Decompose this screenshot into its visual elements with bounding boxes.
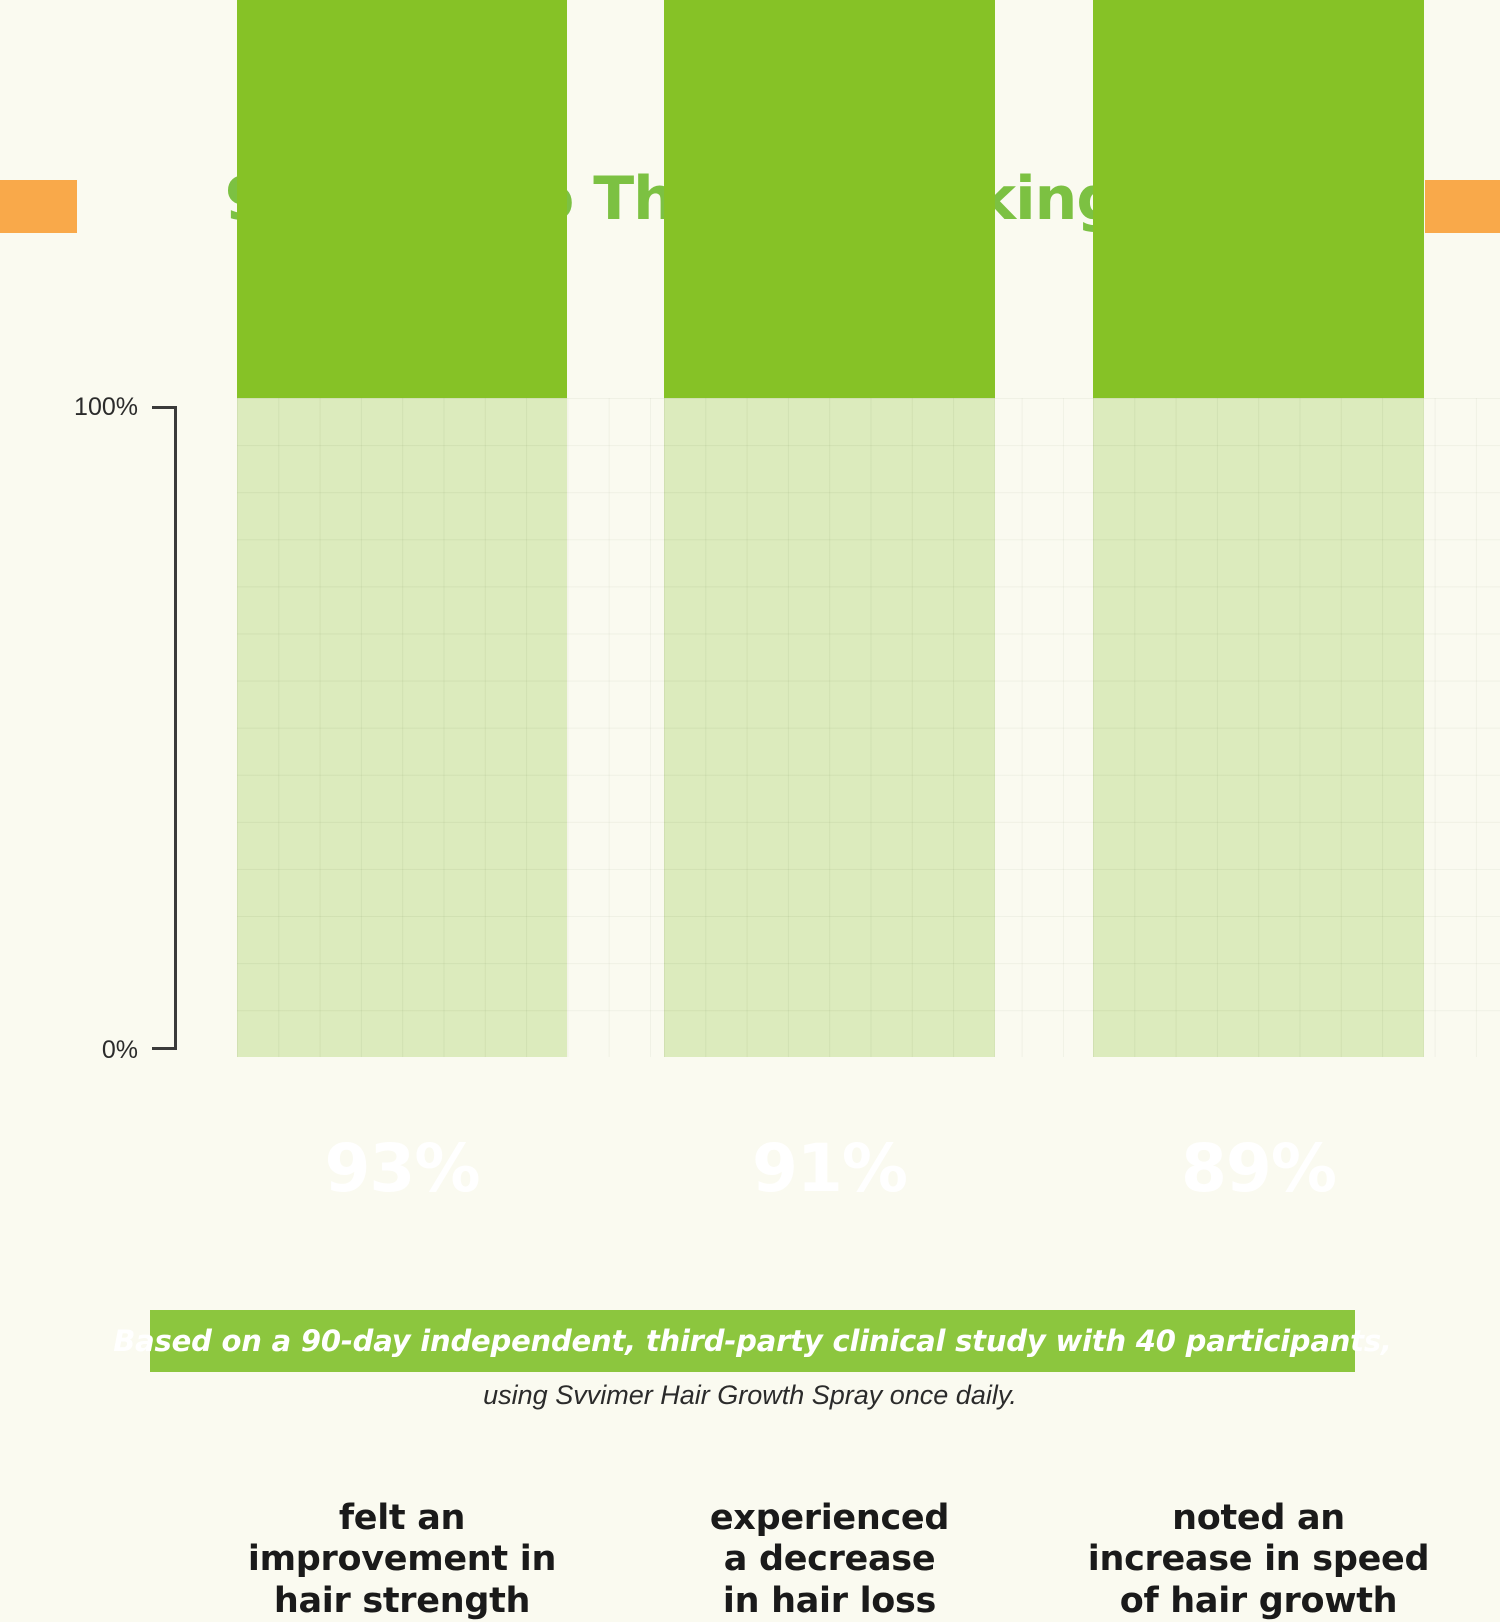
- footer-note: using Svvimer Hair Growth Spray once dai…: [0, 1380, 1500, 1411]
- bar-caption-line: of hair growth: [1043, 1581, 1474, 1622]
- bar-track: [1093, 398, 1424, 1057]
- footer-banner: Based on a 90-day independent, third-par…: [150, 1310, 1355, 1372]
- bar-caption: felt an improvement in hair strength: [187, 1498, 617, 1622]
- bar-chart: 100% 0% 93% felt an improvement in hair …: [0, 0, 1500, 1500]
- infographic-canvas: 90 Days to Thicker-Looking Hair 100% 0% …: [0, 0, 1500, 1500]
- footer-banner-text: Based on a 90-day independent, third-par…: [113, 1324, 1391, 1358]
- bar-value-label: 93%: [237, 1130, 567, 1207]
- bar-caption-line: noted an: [1043, 1498, 1474, 1539]
- bar-caption-line: felt an: [187, 1498, 617, 1539]
- y-axis-tick-min: [152, 1047, 177, 1050]
- bar-value-label: 89%: [1093, 1130, 1424, 1207]
- bar-track: [664, 398, 995, 1057]
- bar-caption-line: improvement in: [187, 1539, 617, 1580]
- y-axis-spine: [174, 406, 177, 1050]
- bar-caption-line: a decrease: [614, 1539, 1045, 1580]
- bar-caption-line: increase in speed: [1043, 1539, 1474, 1580]
- bar-track: [237, 398, 567, 1057]
- bar-fill: [1093, 0, 1424, 398]
- bar-fill: [664, 0, 995, 398]
- bar-caption: experienced a decrease in hair loss: [614, 1498, 1045, 1622]
- y-axis-tick-max: [152, 406, 177, 409]
- bar-caption-line: hair strength: [187, 1581, 617, 1622]
- bar-caption-line: experienced: [614, 1498, 1045, 1539]
- bar-caption-line: in hair loss: [614, 1581, 1045, 1622]
- y-axis-min-label: 0%: [28, 1036, 138, 1065]
- bar-value-label: 91%: [664, 1130, 995, 1207]
- bar-caption: noted an increase in speed of hair growt…: [1043, 1498, 1474, 1622]
- bar-fill: [237, 0, 567, 398]
- y-axis-max-label: 100%: [28, 393, 138, 422]
